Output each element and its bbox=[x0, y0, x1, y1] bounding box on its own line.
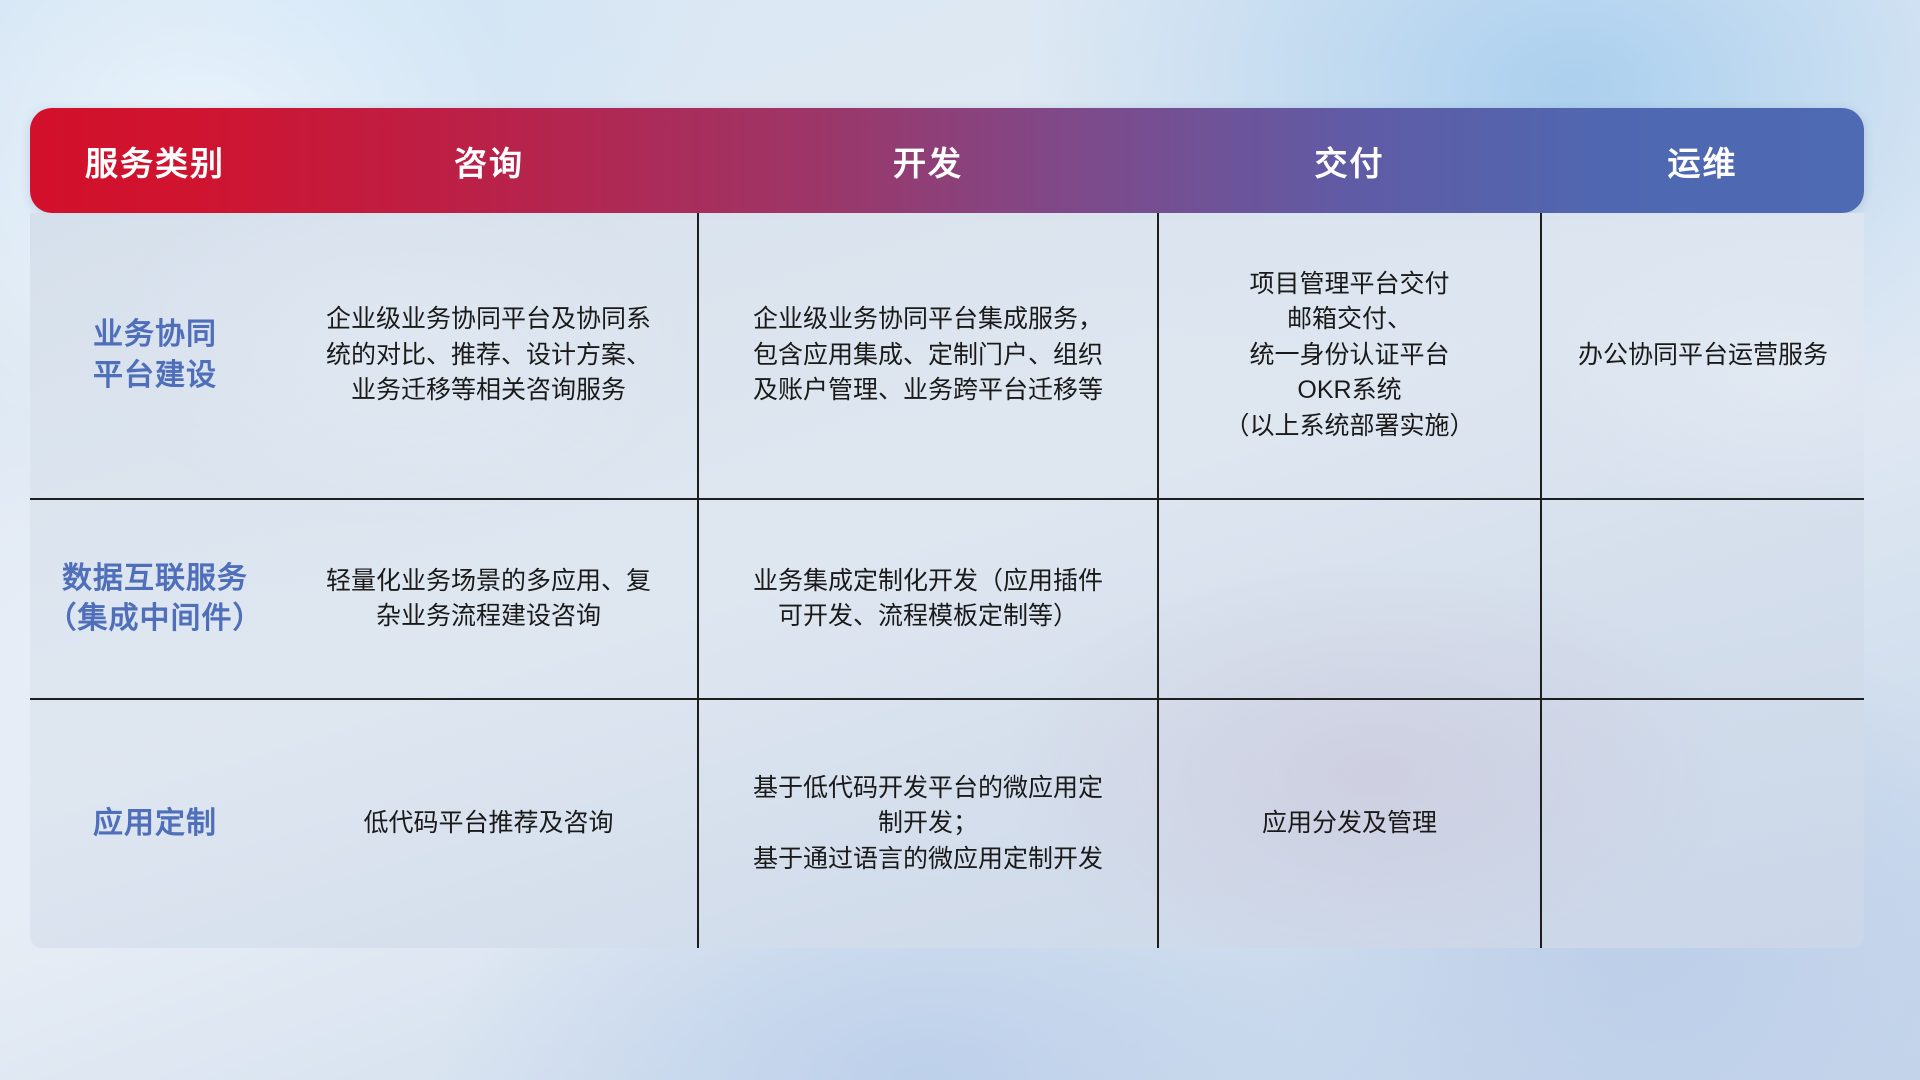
service-category-table: 服务类别 咨询 开发 交付 运维 业务协同 平台建设 企业级业务协同平台及协同系… bbox=[30, 108, 1864, 948]
cell-row0-operations: 办公协同平台运营服务 bbox=[1541, 213, 1864, 499]
table-grid: 业务协同 平台建设 企业级业务协同平台及协同系 统的对比、推荐、设计方案、 业务… bbox=[30, 213, 1864, 948]
cell-row2-consulting: 低代码平台推荐及咨询 bbox=[280, 699, 698, 948]
header-cell-development: 开发 bbox=[698, 137, 1158, 185]
table-body: 业务协同 平台建设 企业级业务协同平台及协同系 统的对比、推荐、设计方案、 业务… bbox=[30, 213, 1864, 948]
table-row: 应用定制 低代码平台推荐及咨询 基于低代码开发平台的微应用定 制开发； 基于通过… bbox=[30, 699, 1864, 948]
row-label-app-customization: 应用定制 bbox=[30, 699, 280, 948]
row-label-business-collaboration: 业务协同 平台建设 bbox=[30, 213, 280, 499]
header-cell-category: 服务类别 bbox=[30, 137, 280, 185]
cell-row1-operations bbox=[1541, 499, 1864, 699]
row-label-data-interconnect: 数据互联服务 （集成中间件） bbox=[30, 499, 280, 699]
table-row: 数据互联服务 （集成中间件） 轻量化业务场景的多应用、复 杂业务流程建设咨询 业… bbox=[30, 499, 1864, 699]
cell-row0-delivery: 项目管理平台交付 邮箱交付、 统一身份认证平台 OKR系统 （以上系统部署实施） bbox=[1158, 213, 1541, 499]
cell-row2-delivery: 应用分发及管理 bbox=[1158, 699, 1541, 948]
cell-row0-development: 企业级业务协同平台集成服务， 包含应用集成、定制门户、组织 及账户管理、业务跨平… bbox=[698, 213, 1158, 499]
table-row: 业务协同 平台建设 企业级业务协同平台及协同系 统的对比、推荐、设计方案、 业务… bbox=[30, 213, 1864, 499]
cell-row1-delivery bbox=[1158, 499, 1541, 699]
table-header-row: 服务类别 咨询 开发 交付 运维 bbox=[30, 108, 1864, 213]
header-cell-delivery: 交付 bbox=[1158, 137, 1541, 185]
cell-row1-development: 业务集成定制化开发（应用插件 可开发、流程模板定制等） bbox=[698, 499, 1158, 699]
cell-row1-consulting: 轻量化业务场景的多应用、复 杂业务流程建设咨询 bbox=[280, 499, 698, 699]
cell-row2-operations bbox=[1541, 699, 1864, 948]
cell-row2-development: 基于低代码开发平台的微应用定 制开发； 基于通过语言的微应用定制开发 bbox=[698, 699, 1158, 948]
header-cell-operations: 运维 bbox=[1541, 137, 1864, 185]
cell-row0-consulting: 企业级业务协同平台及协同系 统的对比、推荐、设计方案、 业务迁移等相关咨询服务 bbox=[280, 213, 698, 499]
header-cell-consulting: 咨询 bbox=[280, 137, 698, 185]
